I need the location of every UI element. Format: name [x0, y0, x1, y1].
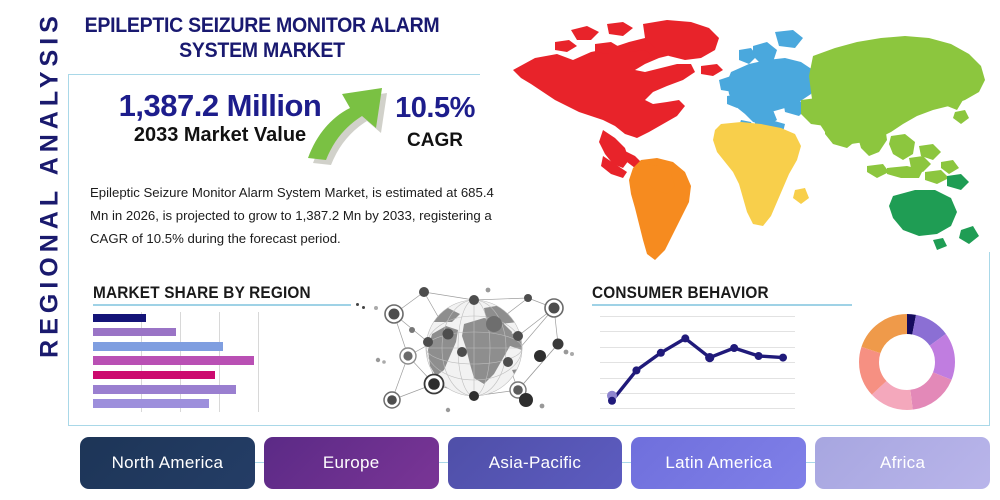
bar-fill [93, 371, 215, 380]
consumer-behavior-section-title: CONSUMER BEHAVIOR [592, 284, 769, 303]
consumer-behavior-rule [592, 304, 852, 306]
line-marker-6 [730, 344, 738, 352]
market-share-rule [93, 304, 351, 306]
region-tab-asia-pacific[interactable]: Asia-Pacific [448, 437, 623, 489]
line-marker-1 [608, 397, 616, 405]
map-region-europe [719, 30, 817, 132]
market-share-rule-dot [356, 303, 359, 306]
bar-fill [93, 356, 254, 365]
world-map [495, 8, 995, 273]
map-region-asia [801, 36, 985, 184]
market-share-section-title: MARKET SHARE BY REGION [93, 284, 311, 303]
global-network-globe-icon [368, 278, 580, 418]
bar-fill [93, 314, 146, 323]
region-tab-north-america[interactable]: North America [80, 437, 255, 489]
region-tab-africa[interactable]: Africa [815, 437, 990, 489]
region-tab-latin-america[interactable]: Latin America [631, 437, 806, 489]
line-marker-5 [705, 353, 714, 362]
region-tab-label: Latin America [665, 453, 772, 473]
line-marker-3 [657, 349, 665, 357]
cagr-label: CAGR [370, 130, 500, 152]
region-tab-label: Europe [323, 453, 380, 473]
line-marker-7 [755, 352, 763, 360]
bar-3 [93, 342, 223, 351]
region-tab-label: North America [112, 453, 224, 473]
map-region-africa [713, 122, 809, 226]
bar-1 [93, 314, 146, 323]
bar-4 [93, 356, 254, 365]
bar-7 [93, 399, 209, 408]
bar-fill [93, 399, 209, 408]
market-share-rule-dot-2 [362, 306, 365, 309]
segment-donut-chart [857, 312, 957, 412]
region-tabs: North AmericaEuropeAsia-PacificLatin Ame… [80, 437, 990, 489]
market-description: Epileptic Seizure Monitor Alarm System M… [90, 182, 510, 250]
stats-row: 1,387.2 Million 2033 Market Value 10.5% … [80, 88, 500, 166]
map-region-north-america [513, 20, 723, 178]
line-marker-2 [632, 366, 640, 374]
cagr-number: 10.5% [370, 92, 500, 125]
bar-fill [93, 342, 223, 351]
region-tab-label: Asia-Pacific [489, 453, 581, 473]
bar-5 [93, 371, 215, 380]
bar-fill [93, 385, 236, 394]
bar-2 [93, 328, 176, 337]
page-title: EPILEPTIC SEIZURE MONITOR ALARM SYSTEM M… [57, 14, 466, 64]
map-region-south-america [629, 158, 691, 260]
line-marker-4 [681, 334, 689, 342]
consumer-behavior-line-chart [600, 312, 795, 412]
bar-gridline [258, 312, 259, 412]
region-tab-label: Africa [880, 453, 925, 473]
market-share-bar-chart [93, 312, 278, 412]
bar-fill [93, 328, 176, 337]
bar-6 [93, 385, 236, 394]
line-marker-8 [779, 354, 787, 362]
map-region-oceania [889, 174, 979, 250]
region-tab-europe[interactable]: Europe [264, 437, 439, 489]
